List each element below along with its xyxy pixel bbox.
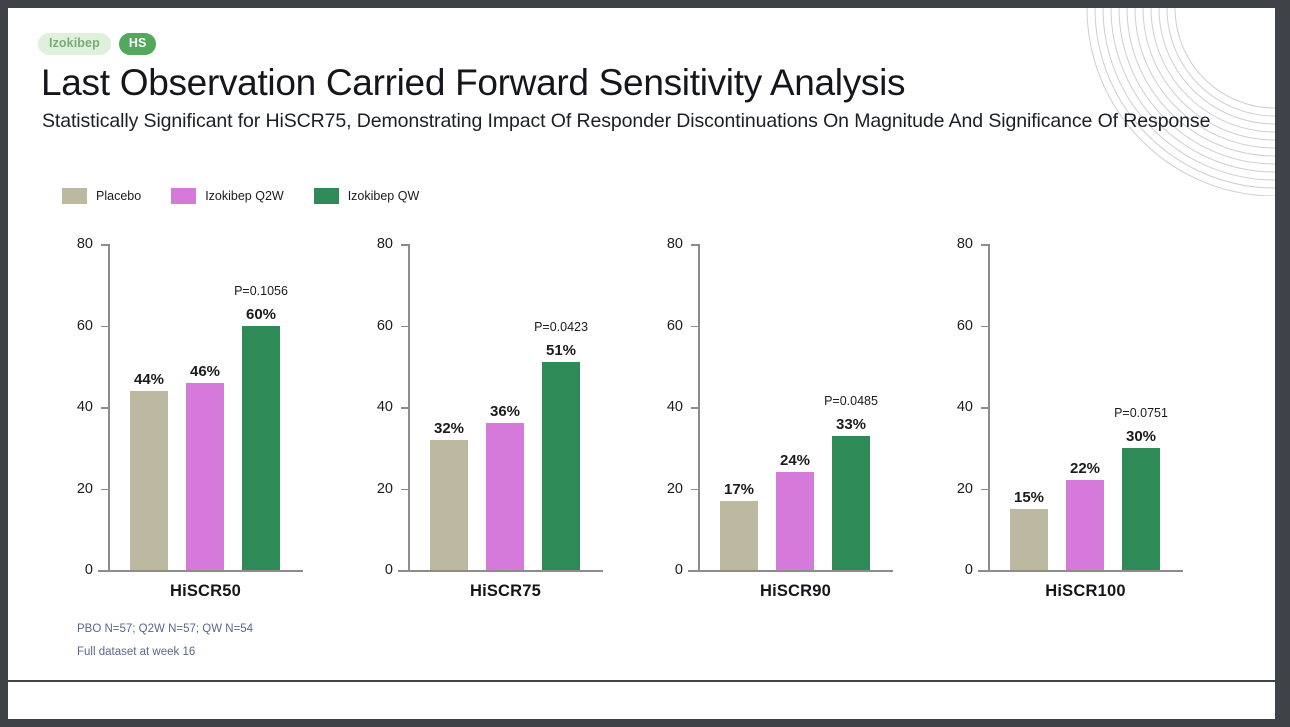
legend-label-izokibep-qw: Izokibep QW	[348, 189, 420, 203]
y-axis-tick-label: 60	[957, 318, 973, 334]
y-axis-tick: 80	[691, 244, 698, 246]
y-axis-tick-label: 60	[77, 318, 93, 334]
bar-value-label: 36%	[490, 403, 520, 420]
slide-content: Izokibep HS Last Observation Carried For…	[8, 8, 1275, 680]
bar-value-label: 32%	[434, 420, 464, 437]
plot-area: 02040608044%46%60%P=0.1056	[108, 244, 303, 570]
plot-area: 02040608015%22%30%P=0.0751	[988, 244, 1183, 570]
y-axis-tick: 40	[691, 407, 698, 409]
y-axis-tick: 20	[691, 489, 698, 491]
p-value-annotation: P=0.0485	[824, 394, 878, 408]
y-axis-line	[698, 244, 700, 570]
badge-row: Izokibep HS	[38, 33, 156, 55]
y-axis-tick: 60	[401, 326, 408, 328]
y-axis-tick-label: 40	[667, 399, 683, 415]
bar: 30%P=0.0751	[1122, 448, 1160, 570]
category-label: HiSCR90	[698, 582, 893, 601]
bar: 44%	[130, 391, 168, 570]
chart-panel-hiscr90: 02040608017%24%33%P=0.0485HiSCR90	[653, 230, 943, 610]
y-axis-line	[408, 244, 410, 570]
y-axis-tick-label: 80	[957, 236, 973, 252]
footnote-dataset: Full dataset at week 16	[77, 646, 253, 658]
chart-panel-hiscr100: 02040608015%22%30%P=0.0751HiSCR100	[943, 230, 1233, 610]
category-label: HiSCR100	[988, 582, 1183, 601]
bar: 46%	[186, 383, 224, 570]
y-axis-tick-label: 0	[675, 562, 683, 578]
indication-badge: HS	[119, 33, 157, 55]
chart-panel-hiscr75: 02040608032%36%51%P=0.0423HiSCR75	[363, 230, 653, 610]
y-axis-line	[988, 244, 990, 570]
page-title: Last Observation Carried Forward Sensiti…	[41, 63, 905, 103]
p-value-annotation: P=0.1056	[234, 284, 288, 298]
bar-value-label: 46%	[190, 363, 220, 380]
y-axis-tick-label: 80	[77, 236, 93, 252]
page-subtitle: Statistically Significant for HiSCR75, D…	[42, 109, 1242, 134]
legend-label-izokibep-q2w: Izokibep Q2W	[205, 189, 284, 203]
chart-panels: 02040608044%46%60%P=0.1056HiSCR500204060…	[8, 230, 1275, 610]
y-axis-tick: 60	[691, 326, 698, 328]
bar: 51%P=0.0423	[542, 362, 580, 570]
y-axis-tick-label: 40	[377, 399, 393, 415]
y-axis-tick-label: 60	[667, 318, 683, 334]
y-axis-tick-label: 60	[377, 318, 393, 334]
y-axis-line	[108, 244, 110, 570]
legend-item-izokibep-q2w: Izokibep Q2W	[171, 188, 284, 204]
x-axis-line	[978, 570, 1183, 572]
y-axis-tick: 80	[101, 244, 108, 246]
y-axis-tick-label: 0	[385, 562, 393, 578]
x-axis-line	[98, 570, 303, 572]
y-axis-tick-label: 80	[667, 236, 683, 252]
y-axis-tick-label: 40	[957, 399, 973, 415]
footnotes: PBO N=57; Q2W N=57; QW N=54 Full dataset…	[77, 623, 253, 669]
chart-legend: Placebo Izokibep Q2W Izokibep QW	[62, 188, 449, 204]
y-axis-tick: 20	[101, 489, 108, 491]
y-axis-tick-label: 80	[377, 236, 393, 252]
legend-label-placebo: Placebo	[96, 189, 141, 203]
drug-badge: Izokibep	[38, 33, 111, 55]
bar-value-label: 24%	[780, 452, 810, 469]
y-axis-tick-label: 20	[957, 481, 973, 497]
slide: Izokibep HS Last Observation Carried For…	[8, 8, 1275, 719]
y-axis-tick: 40	[981, 407, 988, 409]
plot-area: 02040608032%36%51%P=0.0423	[408, 244, 603, 570]
bar-value-label: 22%	[1070, 460, 1100, 477]
bar-value-label: 17%	[724, 481, 754, 498]
bar: 15%	[1010, 509, 1048, 570]
bar-value-label: 15%	[1014, 489, 1044, 506]
y-axis-tick: 0	[981, 570, 988, 572]
legend-item-izokibep-qw: Izokibep QW	[314, 188, 420, 204]
y-axis-tick: 80	[981, 244, 988, 246]
bar: 32%	[430, 440, 468, 570]
bar: 22%	[1066, 480, 1104, 570]
y-axis-tick: 60	[981, 326, 988, 328]
bar-value-label: 30%	[1126, 428, 1156, 445]
y-axis-tick: 40	[101, 407, 108, 409]
y-axis-tick: 60	[101, 326, 108, 328]
y-axis-tick-label: 20	[667, 481, 683, 497]
bar: 24%	[776, 472, 814, 570]
legend-swatch-placebo	[62, 188, 87, 204]
y-axis-tick: 0	[101, 570, 108, 572]
y-axis-tick: 20	[981, 489, 988, 491]
p-value-annotation: P=0.0423	[534, 320, 588, 334]
footnote-sample-sizes: PBO N=57; Q2W N=57; QW N=54	[77, 623, 253, 635]
category-label: HiSCR75	[408, 582, 603, 601]
legend-swatch-izokibep-qw	[314, 188, 339, 204]
chart-panel-hiscr50: 02040608044%46%60%P=0.1056HiSCR50	[63, 230, 353, 610]
y-axis-tick: 20	[401, 489, 408, 491]
y-axis-tick-label: 40	[77, 399, 93, 415]
y-axis-tick-label: 20	[77, 481, 93, 497]
y-axis-tick: 0	[691, 570, 698, 572]
legend-swatch-izokibep-q2w	[171, 188, 196, 204]
plot-area: 02040608017%24%33%P=0.0485	[698, 244, 893, 570]
y-axis-tick-label: 0	[965, 562, 973, 578]
bar: 36%	[486, 423, 524, 570]
bar: 17%	[720, 501, 758, 570]
x-axis-line	[688, 570, 893, 572]
bar-value-label: 60%	[246, 306, 276, 323]
bar-value-label: 33%	[836, 416, 866, 433]
bottom-strip	[8, 682, 1275, 719]
bar-value-label: 51%	[546, 342, 576, 359]
y-axis-tick: 0	[401, 570, 408, 572]
y-axis-tick-label: 0	[85, 562, 93, 578]
legend-item-placebo: Placebo	[62, 188, 141, 204]
p-value-annotation: P=0.0751	[1114, 406, 1168, 420]
bar: 33%P=0.0485	[832, 436, 870, 570]
x-axis-line	[398, 570, 603, 572]
bar-value-label: 44%	[134, 371, 164, 388]
y-axis-tick: 80	[401, 244, 408, 246]
y-axis-tick-label: 20	[377, 481, 393, 497]
y-axis-tick: 40	[401, 407, 408, 409]
bar: 60%P=0.1056	[242, 326, 280, 571]
category-label: HiSCR50	[108, 582, 303, 601]
